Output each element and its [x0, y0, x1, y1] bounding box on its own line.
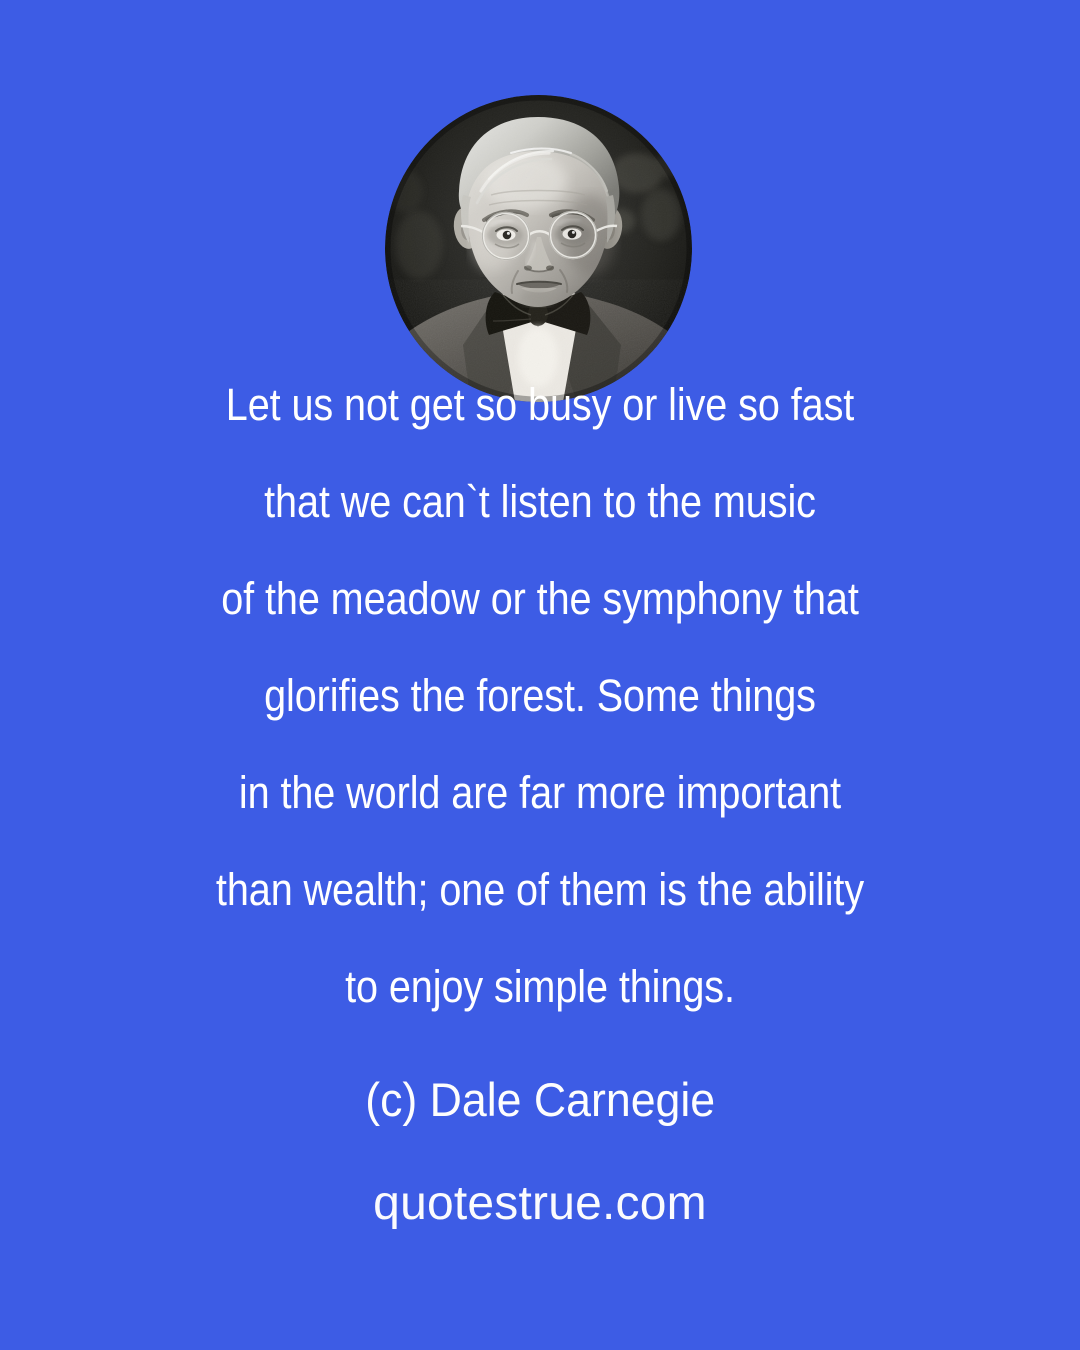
- quote-line: glorifies the forest. Some things: [65, 647, 1015, 744]
- quote-line: that we can`t listen to the music: [65, 453, 1015, 550]
- quote-line: in the world are far more important: [65, 744, 1015, 841]
- quote-line: of the meadow or the symphony that: [65, 550, 1015, 647]
- site-url-label: quotestrue.com: [373, 1174, 707, 1234]
- quote-card: Let us not get so busy or live so fast t…: [0, 0, 1080, 1350]
- quote-line: to enjoy simple things.: [65, 938, 1015, 1035]
- quote-line: than wealth; one of them is the ability: [65, 841, 1015, 938]
- attribution-label: (c) Dale Carnegie: [365, 1070, 715, 1130]
- quote-attribution: (c) Dale Carnegie: [0, 1070, 1080, 1130]
- site-footer: quotestrue.com: [0, 1174, 1080, 1234]
- quote-text: Let us not get so busy or live so fast t…: [0, 356, 1080, 1035]
- quote-line: Let us not get so busy or live so fast: [65, 356, 1015, 453]
